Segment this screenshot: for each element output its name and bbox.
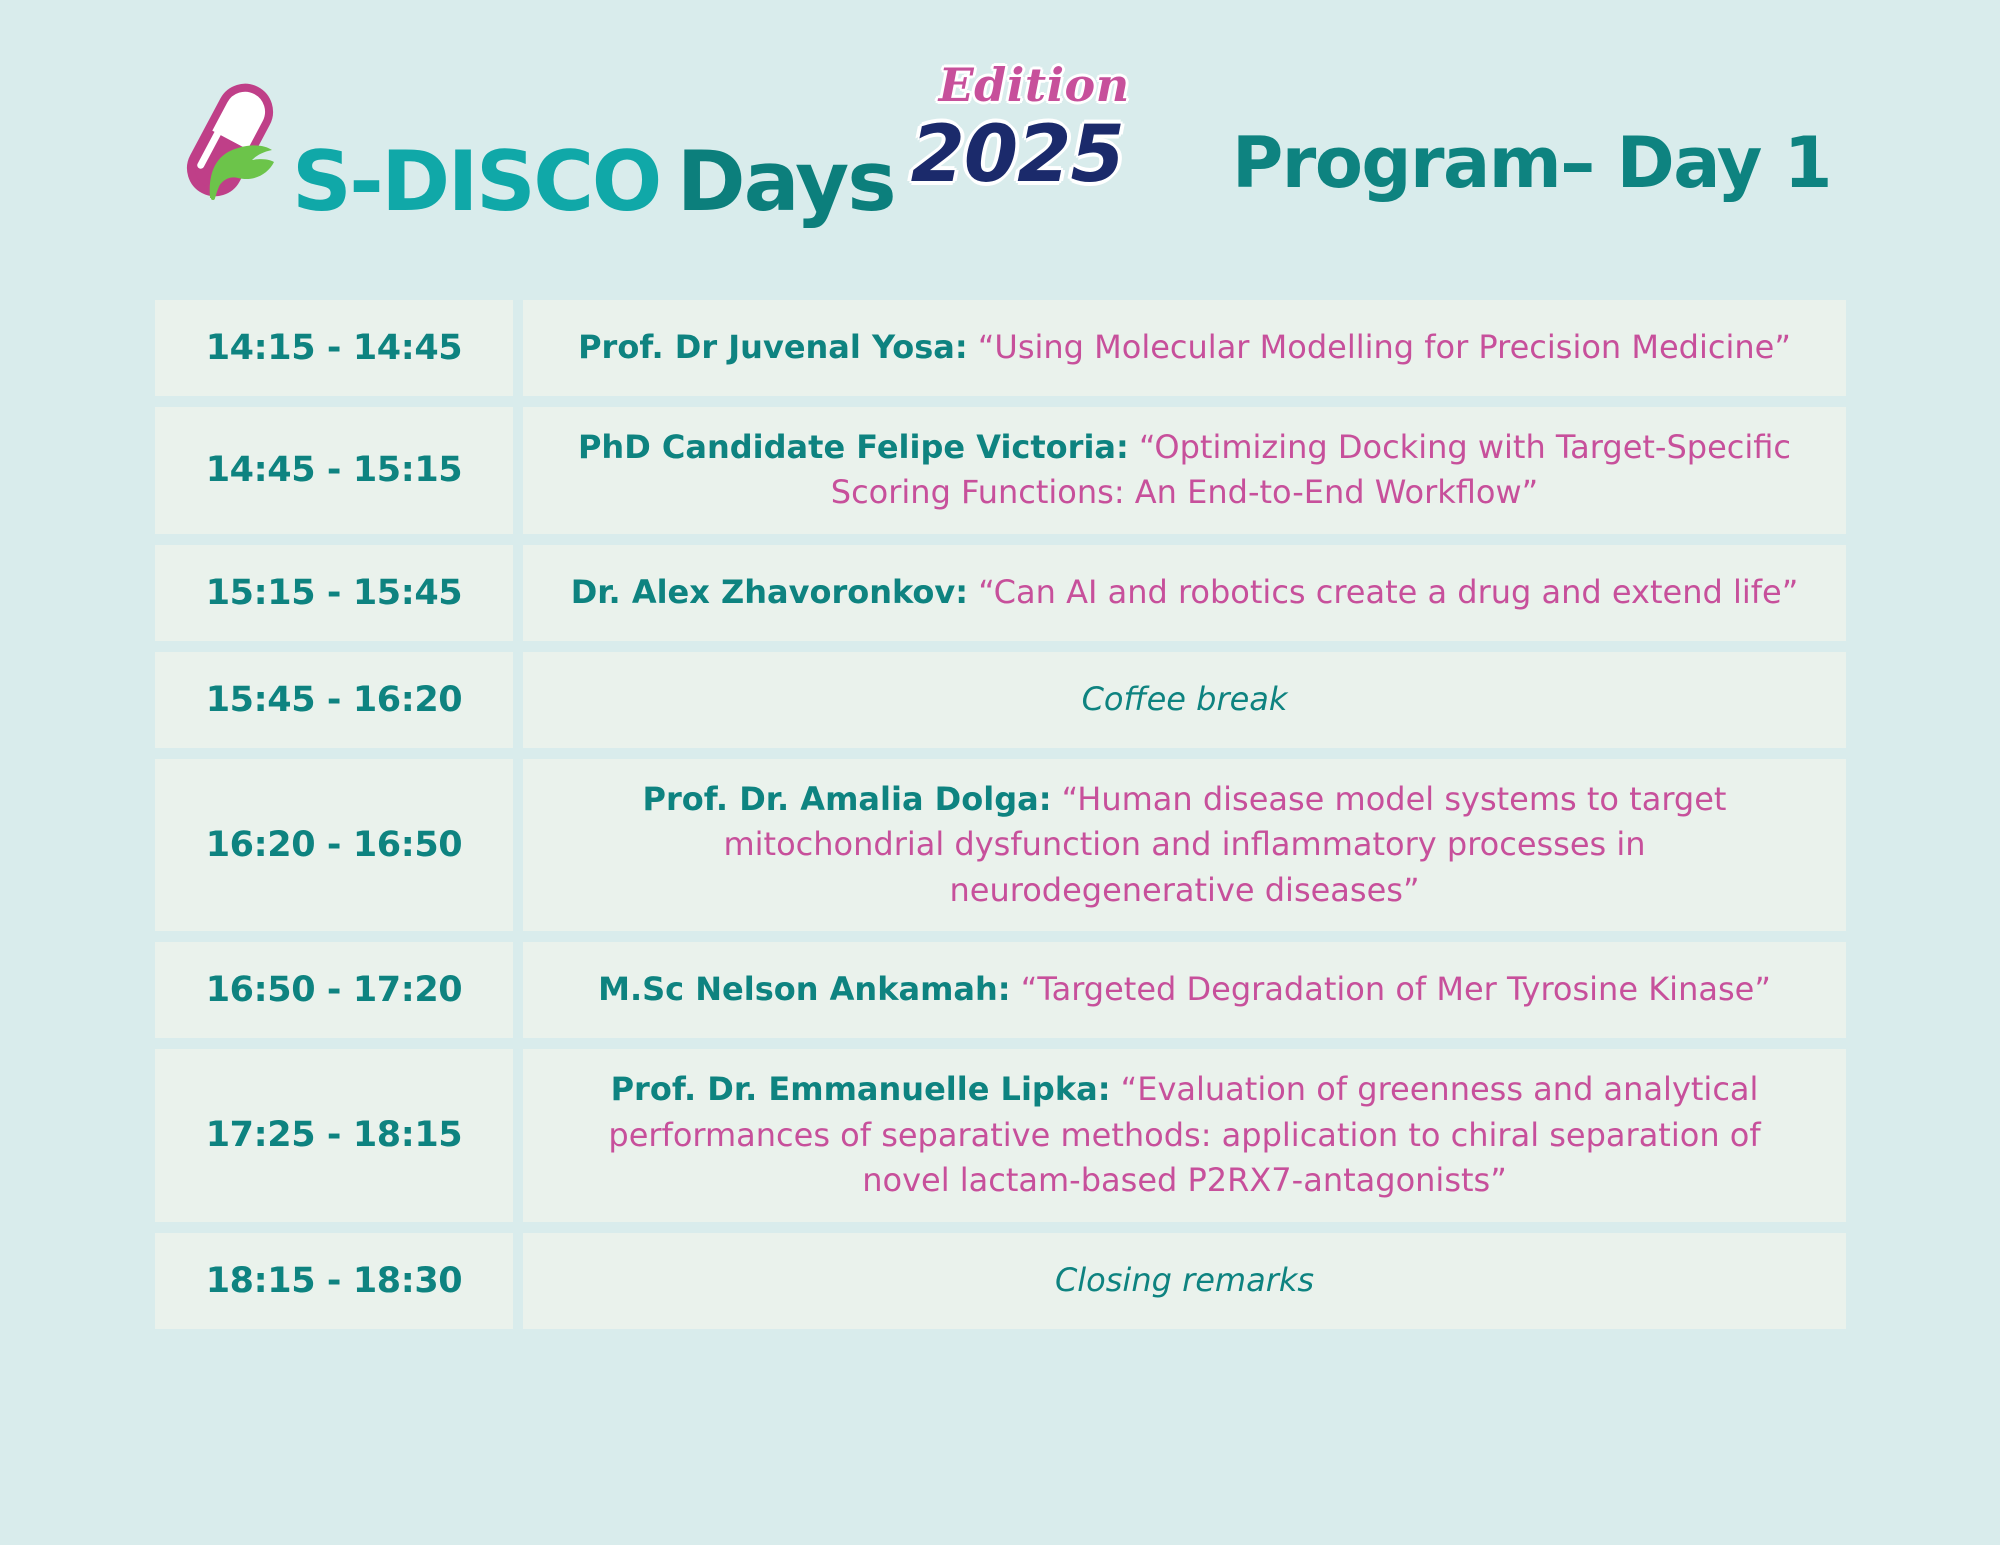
time-range: 16:50 - 17:20 bbox=[206, 970, 463, 1010]
session-text: Prof. Dr Juvenal Yosa: “Using Molecular … bbox=[578, 325, 1791, 370]
page-title: Program– Day 1 bbox=[1232, 128, 1831, 198]
time-cell: 15:45 - 16:20 bbox=[155, 652, 513, 748]
schedule-table: 14:15 - 14:45 Prof. Dr Juvenal Yosa: “Us… bbox=[155, 300, 1846, 1329]
table-row: 17:25 - 18:15 Prof. Dr. Emmanuelle Lipka… bbox=[155, 1049, 1846, 1221]
table-row: 14:45 - 15:15 PhD Candidate Felipe Victo… bbox=[155, 407, 1846, 534]
session-cell: Dr. Alex Zhavoronkov: “Can AI and roboti… bbox=[523, 545, 1846, 641]
break-label: Coffee break bbox=[1082, 677, 1288, 722]
session-title: “Using Molecular Modelling for Precision… bbox=[968, 328, 1791, 366]
speaker-name: Dr. Alex Zhavoronkov: bbox=[571, 573, 968, 611]
table-row: 18:15 - 18:30 Closing remarks bbox=[155, 1233, 1846, 1329]
time-cell: 18:15 - 18:30 bbox=[155, 1233, 513, 1329]
time-cell: 16:50 - 17:20 bbox=[155, 942, 513, 1038]
time-cell: 14:45 - 15:15 bbox=[155, 407, 513, 534]
session-cell: Closing remarks bbox=[523, 1233, 1846, 1329]
edition-year-stack: Edition 2025 bbox=[911, 80, 1111, 200]
time-cell: 15:15 - 15:45 bbox=[155, 545, 513, 641]
session-cell: Coffee break bbox=[523, 652, 1846, 748]
session-cell: M.Sc Nelson Ankamah: “Targeted Degradati… bbox=[523, 942, 1846, 1038]
session-text: Prof. Dr. Amalia Dolga: “Human disease m… bbox=[570, 777, 1800, 913]
time-range: 16:20 - 16:50 bbox=[206, 825, 463, 865]
speaker-name: PhD Candidate Felipe Victoria: bbox=[578, 428, 1129, 466]
capsule-leaf-logo-icon bbox=[182, 80, 278, 200]
time-range: 15:45 - 16:20 bbox=[206, 680, 463, 720]
poster-header: S-DISCO Days Edition 2025 Program– Day 1 bbox=[0, 0, 2000, 250]
edition-label: Edition bbox=[939, 62, 1130, 108]
time-range: 15:15 - 15:45 bbox=[206, 573, 463, 613]
time-cell: 17:25 - 18:15 bbox=[155, 1049, 513, 1221]
brand-name-primary: S-DISCO bbox=[292, 140, 660, 223]
wordmark: S-DISCO Days Edition 2025 bbox=[292, 80, 1111, 200]
session-title: “Can AI and robotics create a drug and e… bbox=[968, 573, 1798, 611]
program-poster: S-DISCO Days Edition 2025 Program– Day 1… bbox=[0, 0, 2000, 1545]
table-row: 16:50 - 17:20 M.Sc Nelson Ankamah: “Targ… bbox=[155, 942, 1846, 1038]
break-label: Closing remarks bbox=[1055, 1258, 1314, 1303]
table-row: 15:45 - 16:20 Coffee break bbox=[155, 652, 1846, 748]
session-cell: PhD Candidate Felipe Victoria: “Optimizi… bbox=[523, 407, 1846, 534]
speaker-name: Prof. Dr Juvenal Yosa: bbox=[578, 328, 968, 366]
table-row: 14:15 - 14:45 Prof. Dr Juvenal Yosa: “Us… bbox=[155, 300, 1846, 396]
table-row: 16:20 - 16:50 Prof. Dr. Amalia Dolga: “H… bbox=[155, 759, 1846, 931]
time-cell: 14:15 - 14:45 bbox=[155, 300, 513, 396]
session-text: Prof. Dr. Emmanuelle Lipka: “Evaluation … bbox=[570, 1067, 1800, 1203]
session-cell: Prof. Dr. Emmanuelle Lipka: “Evaluation … bbox=[523, 1049, 1846, 1221]
session-title: “Targeted Degradation of Mer Tyrosine Ki… bbox=[1011, 970, 1771, 1008]
time-range: 14:45 - 15:15 bbox=[206, 450, 463, 490]
time-cell: 16:20 - 16:50 bbox=[155, 759, 513, 931]
speaker-name: Prof. Dr. Emmanuelle Lipka: bbox=[611, 1070, 1111, 1108]
brand-lockup: S-DISCO Days Edition 2025 bbox=[182, 80, 1111, 200]
edition-year: 2025 bbox=[911, 116, 1124, 194]
table-row: 15:15 - 15:45 Dr. Alex Zhavoronkov: “Can… bbox=[155, 545, 1846, 641]
speaker-name: M.Sc Nelson Ankamah: bbox=[598, 970, 1011, 1008]
brand-name-secondary: Days bbox=[677, 140, 895, 223]
speaker-name: Prof. Dr. Amalia Dolga: bbox=[643, 780, 1052, 818]
session-cell: Prof. Dr. Amalia Dolga: “Human disease m… bbox=[523, 759, 1846, 931]
time-range: 18:15 - 18:30 bbox=[206, 1261, 463, 1301]
time-range: 17:25 - 18:15 bbox=[206, 1115, 463, 1155]
session-text: PhD Candidate Felipe Victoria: “Optimizi… bbox=[570, 425, 1800, 516]
session-text: M.Sc Nelson Ankamah: “Targeted Degradati… bbox=[598, 967, 1771, 1012]
session-cell: Prof. Dr Juvenal Yosa: “Using Molecular … bbox=[523, 300, 1846, 396]
session-text: Dr. Alex Zhavoronkov: “Can AI and roboti… bbox=[571, 570, 1799, 615]
time-range: 14:15 - 14:45 bbox=[206, 328, 463, 368]
